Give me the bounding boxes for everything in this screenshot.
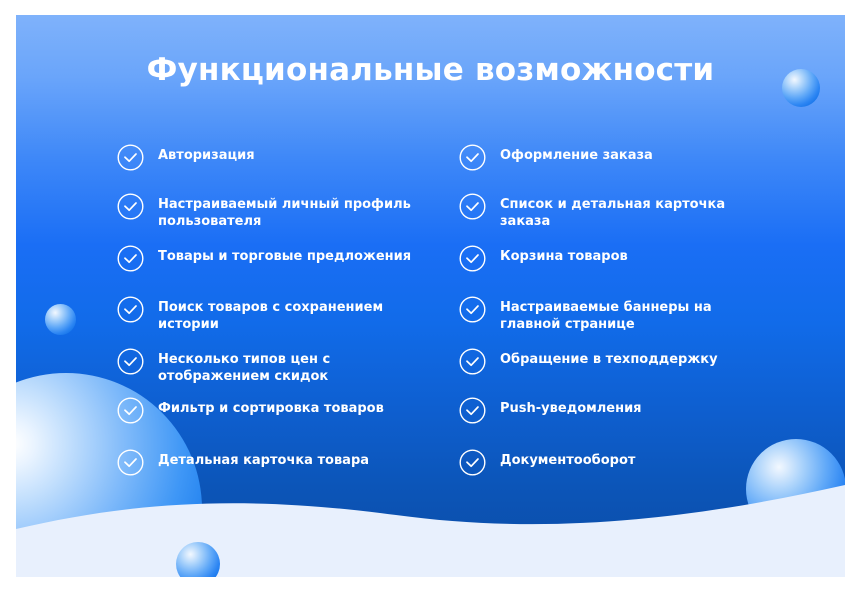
feature-label: Авторизация [158, 143, 255, 164]
feature-item[interactable]: Обращение в техподдержку [459, 347, 789, 375]
check-circle-icon [459, 449, 486, 476]
feature-item[interactable]: Документооборот [459, 448, 789, 476]
feature-item[interactable]: Push-уведомления [459, 396, 789, 424]
feature-label: Несколько типов цен с отображением скидо… [158, 347, 428, 386]
feature-label: Поиск товаров с сохранением истории [158, 295, 428, 334]
check-circle-icon [459, 245, 486, 272]
check-circle-icon [459, 348, 486, 375]
check-circle-icon [459, 397, 486, 424]
feature-label: Оформление заказа [500, 143, 653, 164]
check-circle-icon [117, 193, 144, 220]
feature-label: Список и детальная карточка заказа [500, 192, 770, 231]
check-circle-icon [117, 348, 144, 375]
feature-label: Документооборот [500, 448, 635, 469]
check-circle-icon [117, 449, 144, 476]
check-circle-icon [117, 245, 144, 272]
page-title: Функциональные возможности [16, 53, 845, 89]
slide-root: Функциональные возможности Авторизация Н… [0, 0, 860, 600]
feature-item[interactable]: Товары и торговые предложения [117, 244, 447, 272]
feature-label: Push-уведомления [500, 396, 642, 417]
feature-item[interactable]: Настраиваемый личный профиль пользовател… [117, 192, 447, 231]
feature-item[interactable]: Корзина товаров [459, 244, 789, 272]
feature-item[interactable]: Фильтр и сортировка товаров [117, 396, 447, 424]
feature-item[interactable]: Несколько типов цен с отображением скидо… [117, 347, 447, 386]
check-circle-icon [459, 296, 486, 323]
feature-item[interactable]: Оформление заказа [459, 143, 789, 171]
check-circle-icon [117, 144, 144, 171]
feature-label: Фильтр и сортировка товаров [158, 396, 384, 417]
feature-label: Настраиваемые баннеры на главной страниц… [500, 295, 770, 334]
feature-label: Обращение в техподдержку [500, 347, 718, 368]
check-circle-icon [459, 144, 486, 171]
feature-item[interactable]: Список и детальная карточка заказа [459, 192, 789, 231]
check-circle-icon [117, 397, 144, 424]
check-circle-icon [117, 296, 144, 323]
features-container: Авторизация Настраиваемый личный профиль… [16, 143, 845, 523]
feature-label: Детальная карточка товара [158, 448, 369, 469]
feature-label: Товары и торговые предложения [158, 244, 411, 265]
feature-label: Настраиваемый личный профиль пользовател… [158, 192, 428, 231]
feature-label: Корзина товаров [500, 244, 628, 265]
feature-item[interactable]: Настраиваемые баннеры на главной страниц… [459, 295, 789, 334]
check-circle-icon [459, 193, 486, 220]
slide-card: Функциональные возможности Авторизация Н… [16, 15, 845, 577]
feature-item[interactable]: Авторизация [117, 143, 447, 171]
feature-item[interactable]: Поиск товаров с сохранением истории [117, 295, 447, 334]
feature-item[interactable]: Детальная карточка товара [117, 448, 447, 476]
